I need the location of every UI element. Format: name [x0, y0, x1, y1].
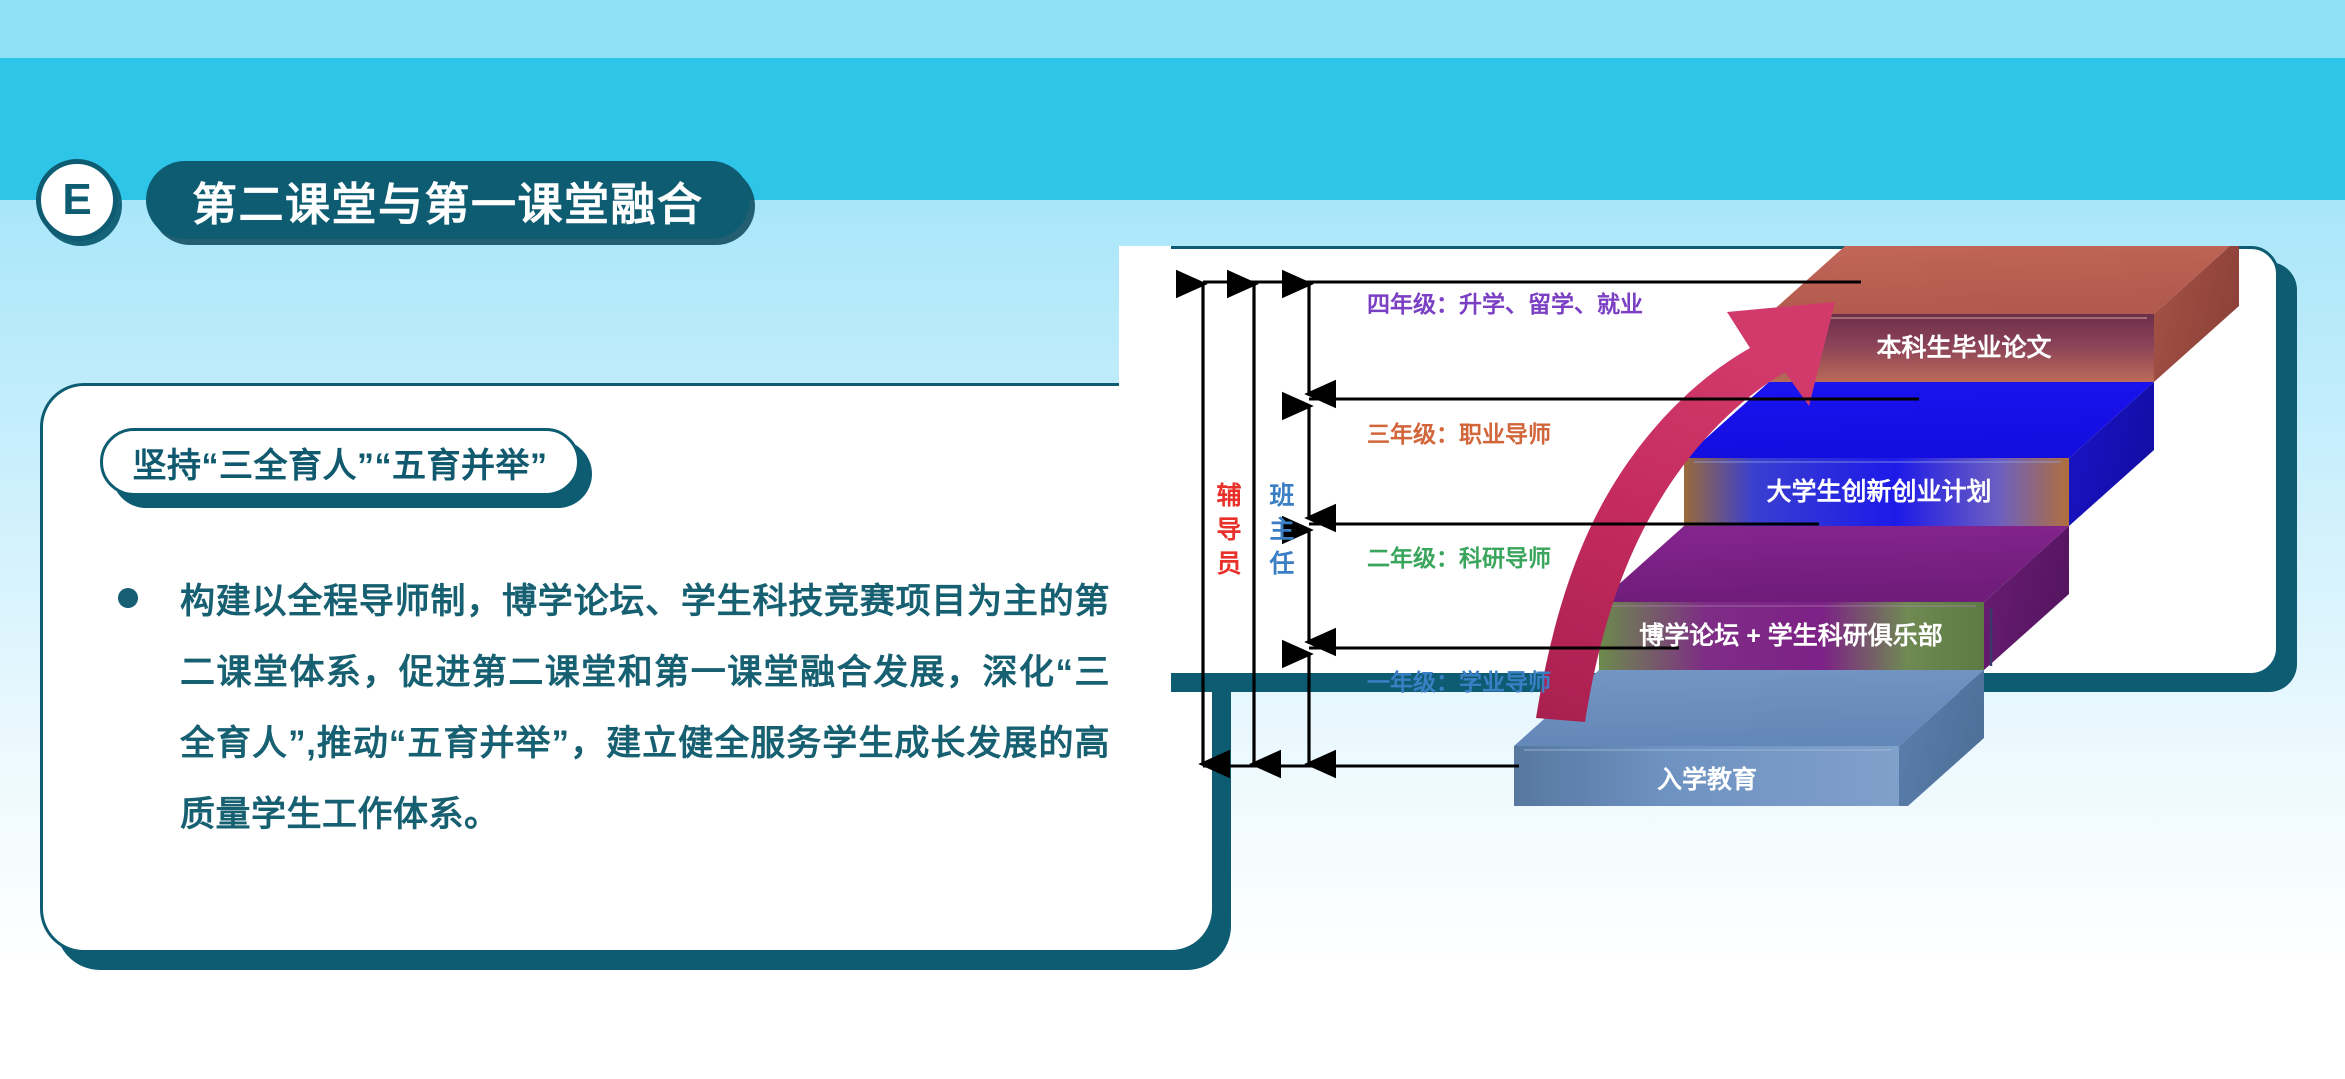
section-badge: E: [36, 159, 118, 241]
slide-header: E 第二课堂与第一课堂融合: [36, 152, 750, 248]
staircase-diagram: 辅 导 员 班 主 任 四年级：升学、留学、就业 三年级：职业导师 二年级：科研…: [1119, 246, 2345, 806]
grade-row-label-3: 三年级：职业导师: [1367, 421, 1551, 447]
background-band-bottom: [0, 970, 2345, 1079]
svg-text:任: 任: [1268, 550, 1294, 578]
step-label-2: 大学生创新创业计划: [1766, 477, 1991, 506]
grade-row-label-4: 四年级：升学、留学、就业: [1367, 291, 1643, 317]
svg-text:主: 主: [1269, 516, 1294, 544]
page-title: 第二课堂与第一课堂融合: [146, 161, 750, 239]
step-label-3: 博学论坛 + 学生科研俱乐部: [1639, 621, 1943, 650]
svg-text:导: 导: [1216, 516, 1241, 544]
svg-text:班: 班: [1269, 482, 1294, 510]
slide-canvas: E 第二课堂与第一课堂融合 坚持“三全育人”“五育并举” 构建以全程导师制，博学…: [0, 0, 2345, 1079]
bullet-text: 构建以全程导师制，博学论坛、学生科技竞赛项目为主的第二课堂体系，促进第二课堂和第…: [180, 566, 1110, 850]
grade-row-label-2: 二年级：科研导师: [1367, 545, 1551, 571]
counselor-ch1: 辅: [1216, 482, 1241, 510]
step-label-1: 本科生毕业论文: [1876, 333, 2052, 362]
subtitle-pill: 坚持“三全育人”“五育并举”: [100, 428, 580, 496]
svg-text:员: 员: [1216, 550, 1241, 578]
bullet-dot-icon: [118, 588, 138, 608]
background-band-top: [0, 0, 2345, 58]
step-label-4: 入学教育: [1657, 765, 1757, 794]
axis-label-counselor: 辅 导 员: [1216, 482, 1241, 578]
bullet-list-item: 构建以全程导师制，博学论坛、学生科技竞赛项目为主的第二课堂体系，促进第二课堂和第…: [118, 566, 1158, 850]
grade-row-label-1: 一年级：学业导师: [1367, 669, 1551, 695]
axis-label-headteacher: 班 主 任: [1268, 482, 1294, 578]
